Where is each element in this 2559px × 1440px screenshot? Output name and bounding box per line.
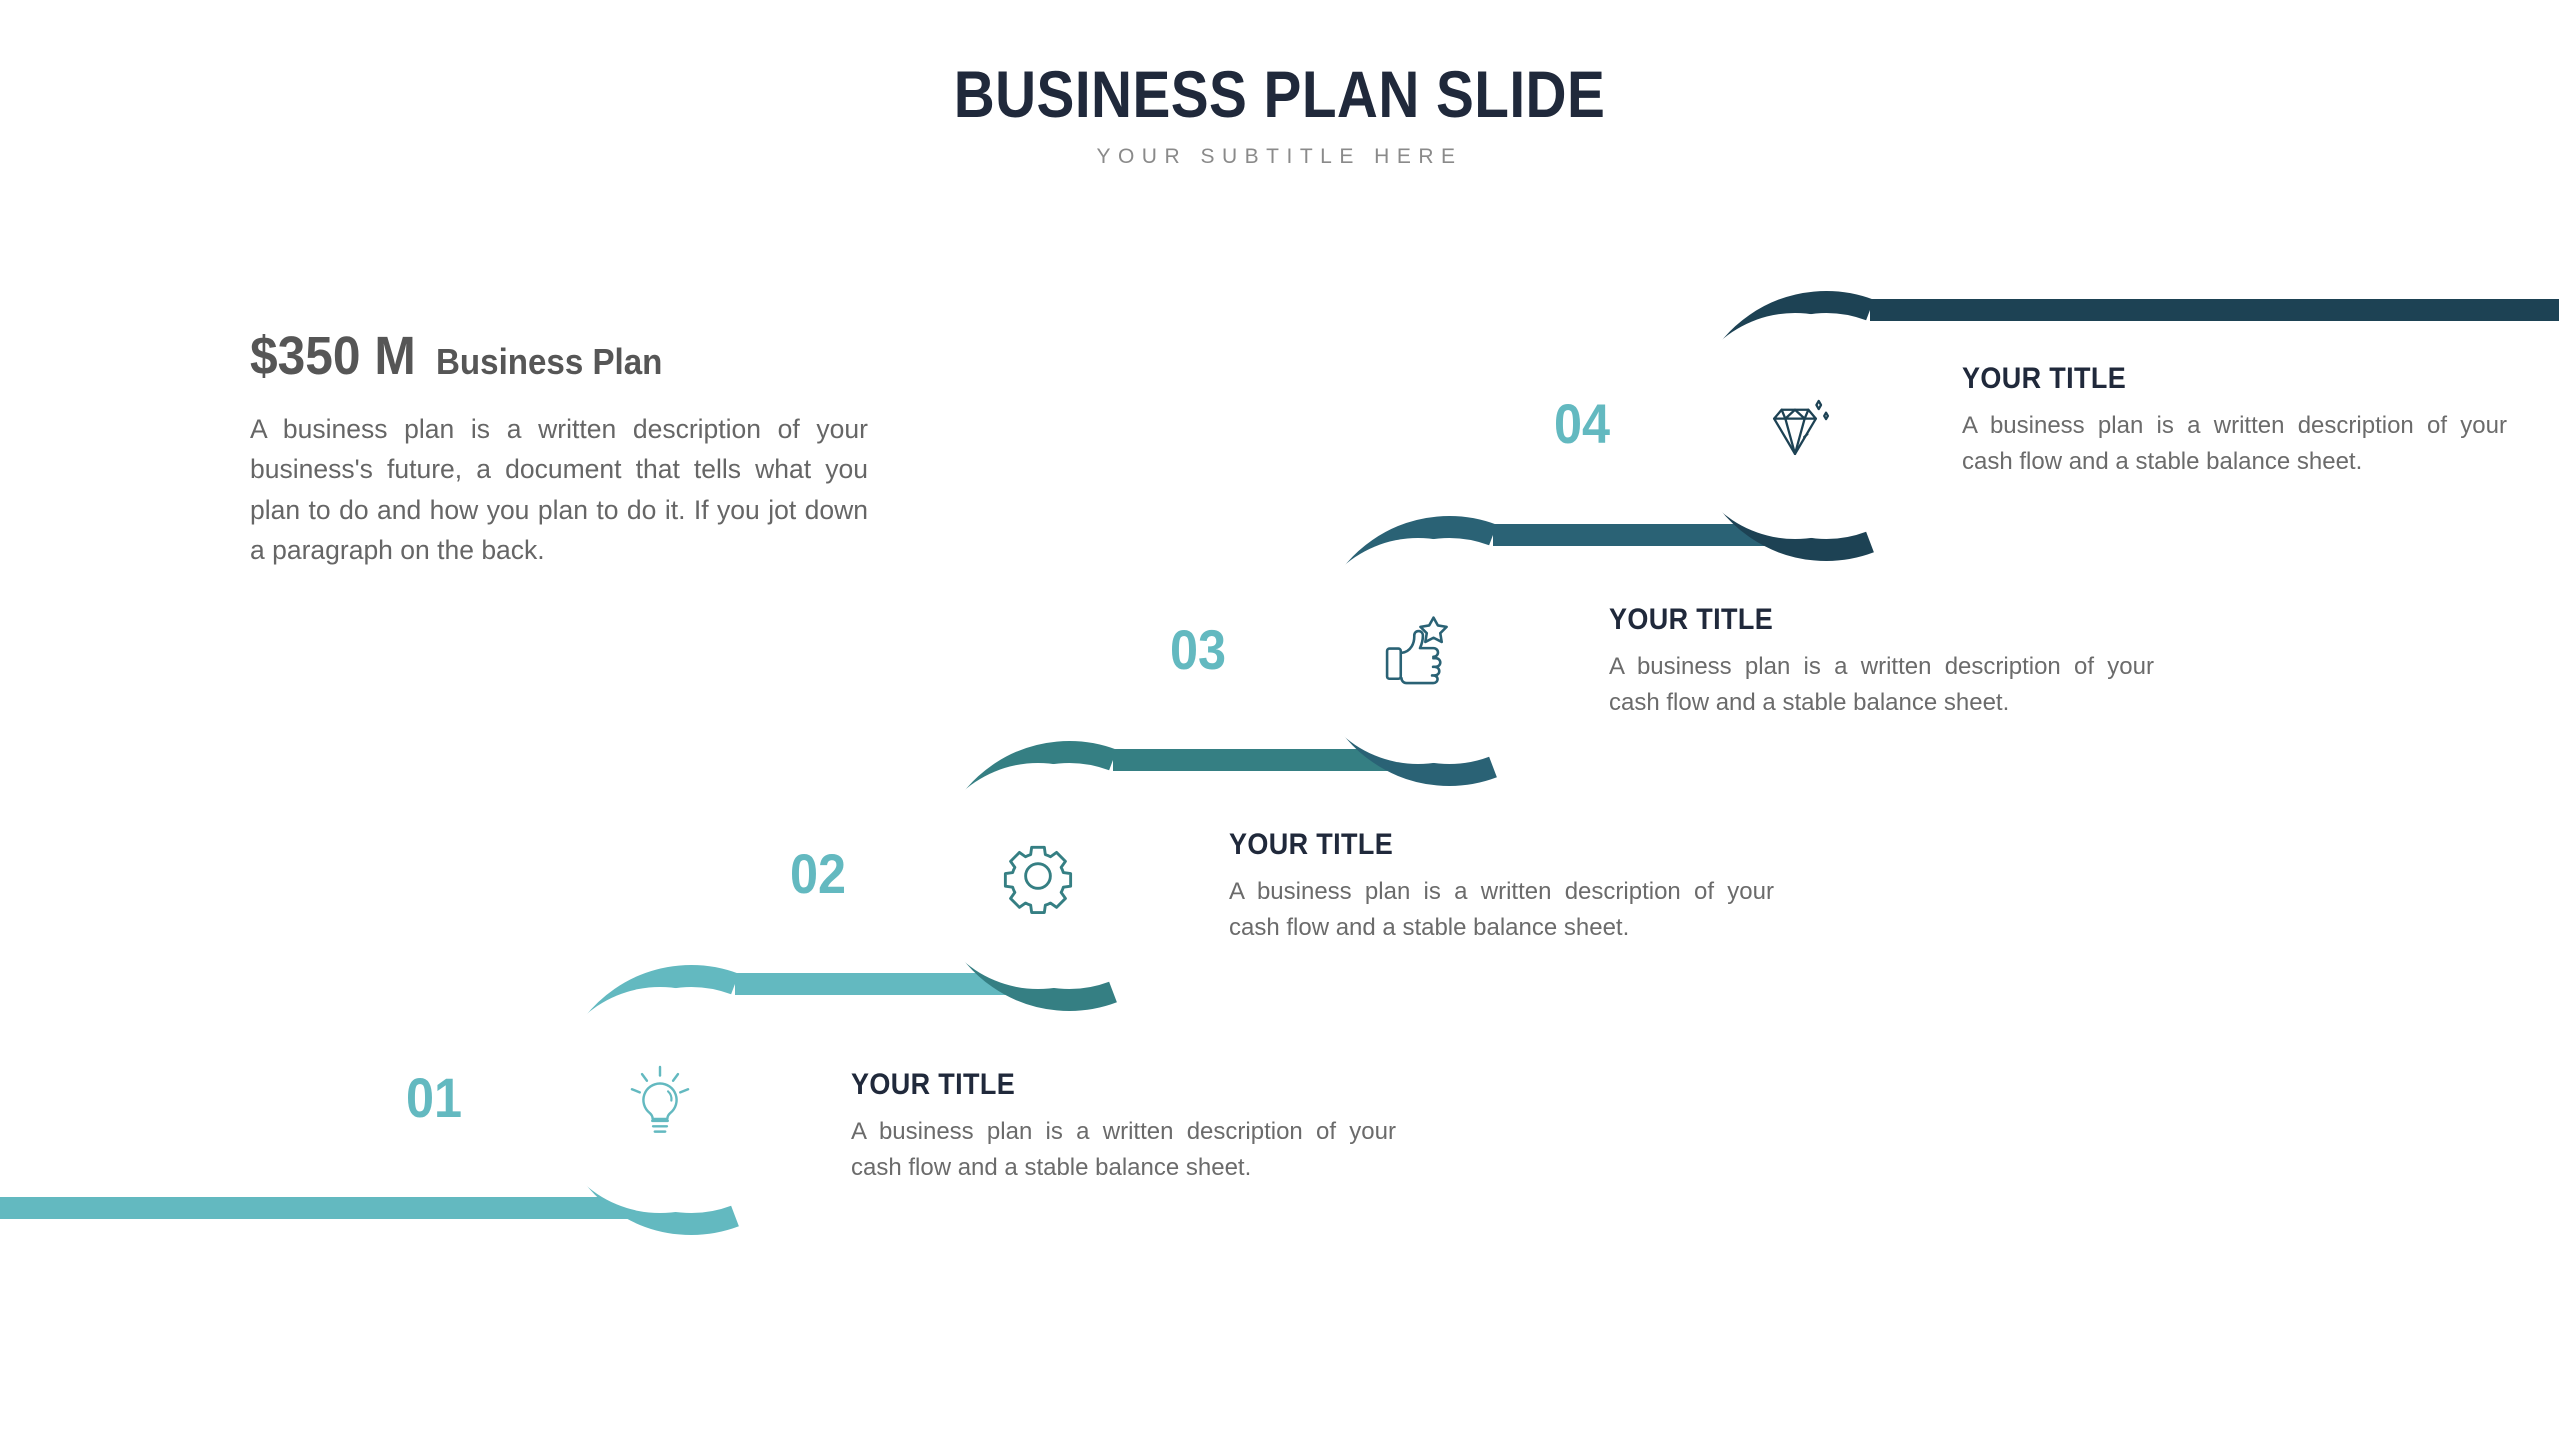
step-body-03: A business plan is a written description… [1609, 649, 2154, 721]
gear-icon [992, 830, 1084, 922]
diamond-icon [1749, 382, 1841, 474]
step-title-03: YOUR TITLE [1609, 603, 2100, 636]
step-body-01: A business plan is a written description… [851, 1114, 1396, 1186]
step-text-03: YOUR TITLE A business plan is a written … [1609, 603, 2154, 721]
step-body-04: A business plan is a written description… [1962, 408, 2507, 480]
slide-canvas: BUSINESS PLAN SLIDE YOUR SUBTITLE HERE $… [0, 0, 2559, 1440]
step-number-01: 01 [406, 1070, 462, 1126]
step-title-01: YOUR TITLE [851, 1068, 1342, 1101]
lightbulb-icon [614, 1054, 706, 1146]
step-text-04: YOUR TITLE A business plan is a written … [1962, 362, 2507, 480]
step-text-01: YOUR TITLE A business plan is a written … [851, 1068, 1396, 1186]
thumbs-up-star-icon [1372, 604, 1464, 696]
step-body-02: A business plan is a written description… [1229, 874, 1774, 946]
flow-connector-diagram [0, 0, 2559, 1440]
step-number-03: 03 [1170, 622, 1226, 678]
step-title-02: YOUR TITLE [1229, 828, 1720, 861]
step-number-04: 04 [1554, 396, 1610, 452]
step-text-02: YOUR TITLE A business plan is a written … [1229, 828, 1774, 946]
step-number-02: 02 [790, 846, 846, 902]
step-title-04: YOUR TITLE [1962, 362, 2453, 395]
